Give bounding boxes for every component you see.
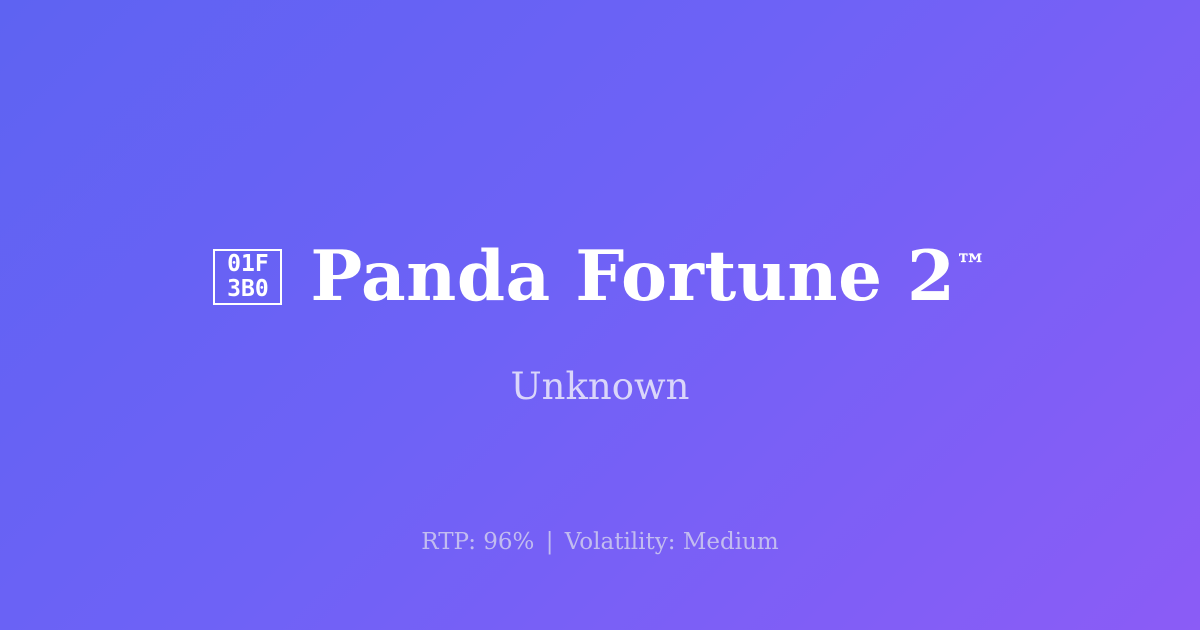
title-row: 01F 3B0 Panda Fortune 2™ <box>0 233 1200 319</box>
page-title: Panda Fortune 2™ <box>310 242 986 311</box>
trademark-symbol: ™ <box>956 248 987 284</box>
rtp-label: RTP: <box>421 529 476 555</box>
tofu-codepoint-top: 01F <box>227 252 269 277</box>
volatility-value: Medium <box>683 529 779 555</box>
tofu-codepoint-bottom: 3B0 <box>227 277 269 302</box>
game-title-text: Panda Fortune 2 <box>310 236 955 317</box>
rtp-value: 96% <box>483 529 534 555</box>
provider-label: Unknown <box>0 365 1200 409</box>
game-preview-card: 01F 3B0 Panda Fortune 2™ Unknown RTP: 96… <box>0 0 1200 630</box>
meta-separator: | <box>542 529 558 555</box>
slot-machine-emoji-icon: 01F 3B0 <box>213 249 282 305</box>
volatility-label: Volatility: <box>565 529 676 555</box>
game-meta: RTP: 96% | Volatility: Medium <box>0 528 1200 556</box>
